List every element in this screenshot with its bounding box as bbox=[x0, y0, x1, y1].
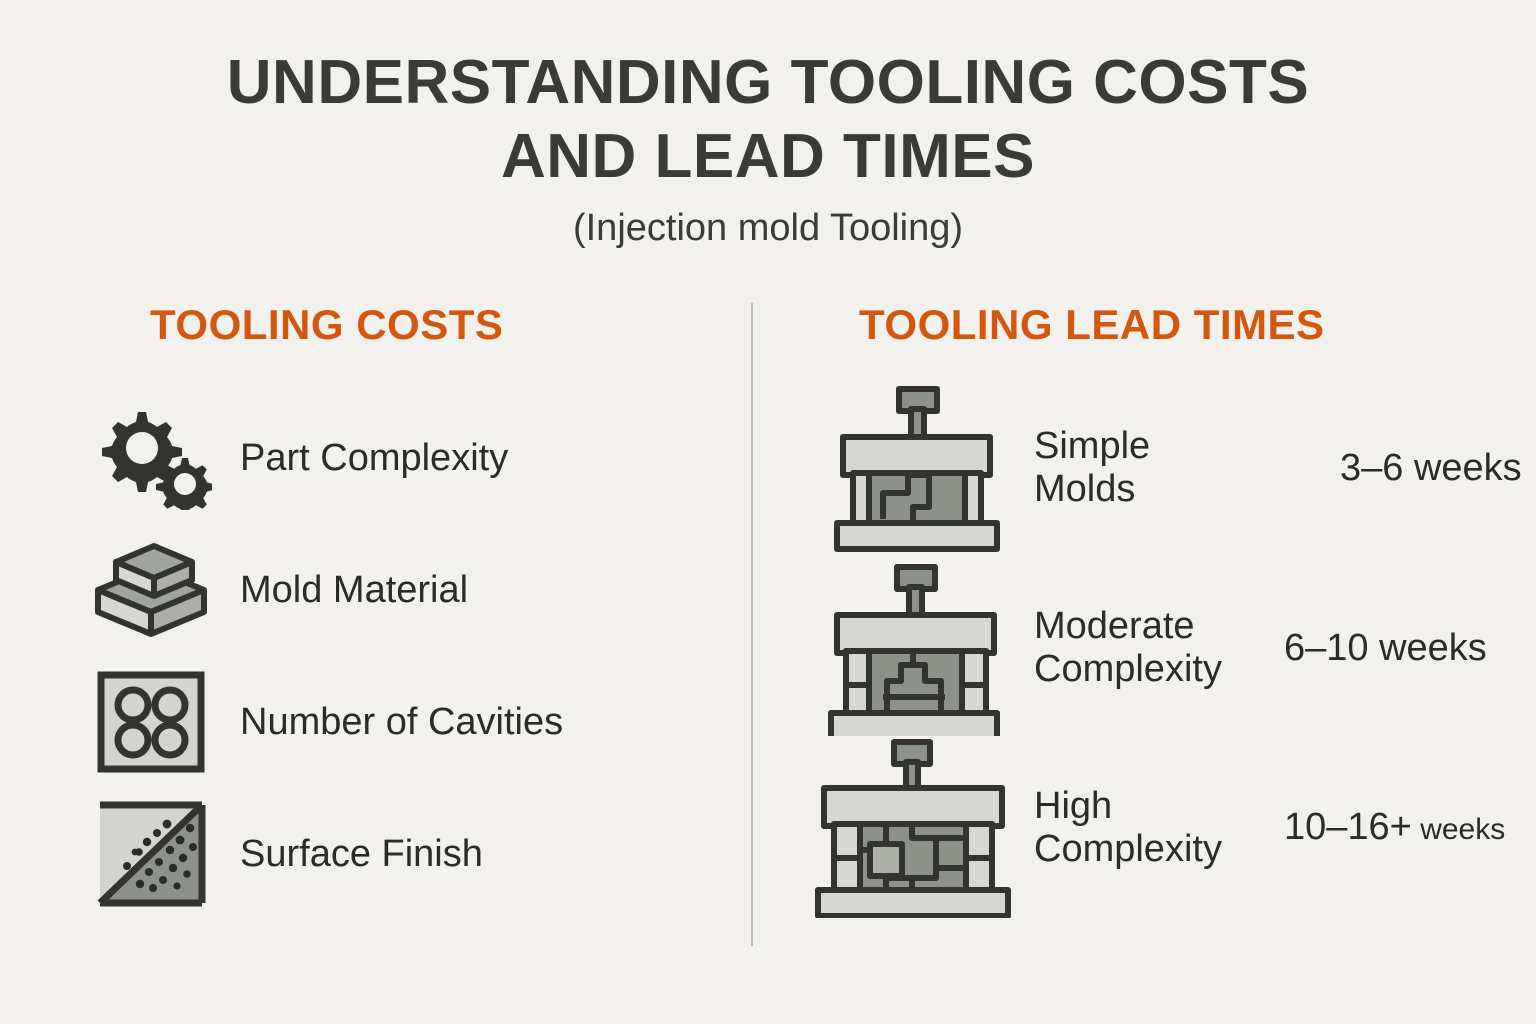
list-item[interactable]: Moderate Complexity 6–10 weeks bbox=[805, 558, 1525, 738]
tooling-lead-times-heading: TOOLING LEAD TIMES bbox=[859, 300, 1525, 350]
column-divider bbox=[751, 303, 753, 946]
page-title-line-2: AND LEAD TIMES bbox=[0, 120, 1536, 194]
list-item[interactable]: Number of Cavities bbox=[88, 656, 728, 788]
list-item-label: Number of Cavities bbox=[240, 700, 563, 744]
moderate-mold-icon bbox=[805, 561, 1020, 736]
lead-time-duration: 6–10 weeks bbox=[1284, 627, 1487, 670]
tooling-costs-heading: TOOLING COSTS bbox=[150, 300, 728, 350]
tooling-costs-column: TOOLING COSTS Part Comp bbox=[88, 300, 728, 920]
lead-time-label: High Complexity bbox=[1034, 785, 1284, 871]
lead-time-duration: 10–16+ weeks bbox=[1284, 806, 1505, 851]
high-complexity-mold-icon bbox=[805, 741, 1020, 916]
lead-time-label: Moderate Complexity bbox=[1034, 605, 1284, 691]
lead-time-label-line-1: Simple bbox=[1034, 425, 1284, 468]
lead-time-label: Simple Molds bbox=[1034, 425, 1284, 511]
list-item-label: Surface Finish bbox=[240, 832, 483, 876]
lead-time-label-line-2: Complexity bbox=[1034, 828, 1284, 871]
page-subtitle: (Injection mold Tooling) bbox=[0, 206, 1536, 250]
lead-time-label-line-2: Complexity bbox=[1034, 648, 1284, 691]
list-item[interactable]: Mold Material bbox=[88, 524, 728, 656]
infographic-canvas: UNDERSTANDING TOOLING COSTS AND LEAD TIM… bbox=[0, 0, 1536, 1024]
gears-icon bbox=[88, 402, 214, 514]
list-item-label: Part Complexity bbox=[240, 436, 508, 480]
tooling-costs-list: Part Complexity bbox=[88, 392, 728, 920]
simple-mold-icon bbox=[805, 381, 1020, 556]
lead-time-duration: 3–6 weeks bbox=[1340, 447, 1522, 490]
tooling-lead-times-column: TOOLING LEAD TIMES bbox=[805, 300, 1525, 918]
surface-finish-icon bbox=[88, 798, 214, 910]
stacked-blocks-icon bbox=[88, 534, 214, 646]
list-item-label: Mold Material bbox=[240, 568, 468, 612]
list-item[interactable]: High Complexity 10–16+ weeks bbox=[805, 738, 1525, 918]
four-cavities-icon bbox=[88, 666, 214, 778]
tooling-lead-times-list: Simple Molds 3–6 weeks bbox=[805, 378, 1525, 918]
page-title-line-1: UNDERSTANDING TOOLING COSTS bbox=[0, 46, 1536, 120]
lead-time-duration-value: 10–16+ bbox=[1284, 806, 1412, 848]
lead-time-label-line-1: High bbox=[1034, 785, 1284, 828]
lead-time-label-line-2: Molds bbox=[1034, 468, 1284, 511]
lead-time-duration-unit: weeks bbox=[1412, 813, 1505, 846]
list-item[interactable]: Surface Finish bbox=[88, 788, 728, 920]
list-item[interactable]: Simple Molds 3–6 weeks bbox=[805, 378, 1525, 558]
header: UNDERSTANDING TOOLING COSTS AND LEAD TIM… bbox=[0, 46, 1536, 250]
list-item[interactable]: Part Complexity bbox=[88, 392, 728, 524]
lead-time-label-line-1: Moderate bbox=[1034, 605, 1284, 648]
